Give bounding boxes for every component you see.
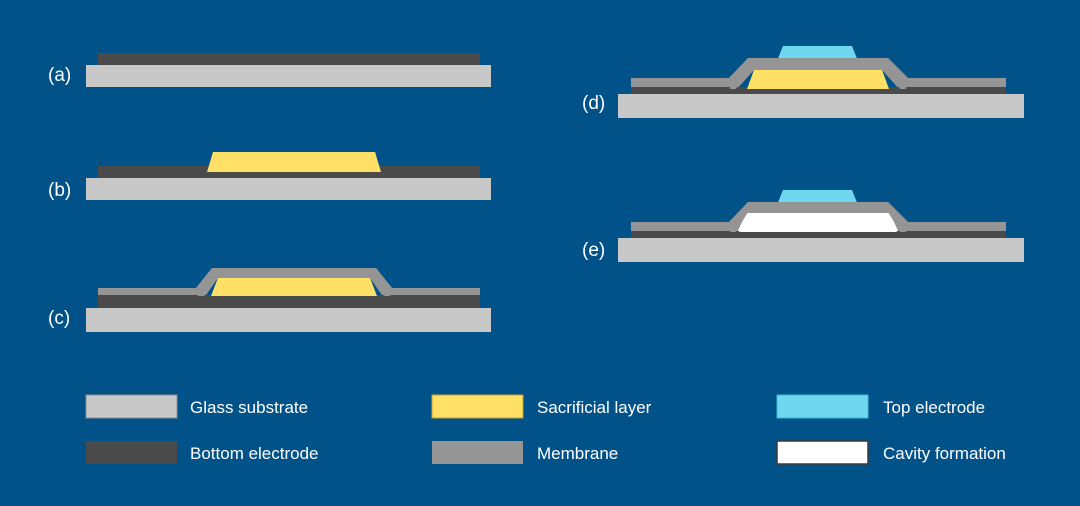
legend-label-bottom-electrode: Bottom electrode [190,444,319,463]
panel-a-glass-substrate [86,65,491,87]
cmut-fabrication-process-diagram: (a) (b) (c) [0,0,1080,506]
legend-label-sacrificial-layer: Sacrificial layer [537,398,652,417]
legend-swatch-glass-substrate [86,395,177,418]
legend-item-glass-substrate: Glass substrate [86,395,308,418]
panel-d-sacrificial-layer-overlay [747,70,889,89]
legend-item-cavity-formation: Cavity formation [777,441,1006,464]
legend-swatch-cavity-formation [777,441,868,464]
legend-label-top-electrode: Top electrode [883,398,985,417]
legend-swatch-top-electrode [777,395,868,418]
panel-e-label: (e) [582,240,605,261]
panel-d-label: (d) [582,93,605,114]
legend-item-sacrificial-layer: Sacrificial layer [432,395,652,418]
panel-e-glass-substrate [618,238,1024,262]
legend-swatch-bottom-electrode [86,441,177,464]
panel-b-glass-substrate [86,178,491,200]
panel-e-cavity-overlay [739,213,897,232]
panel-c-label: (c) [48,308,70,329]
panel-c-sacrificial-layer-overlay [211,278,377,296]
legend-swatch-sacrificial-layer [432,395,523,418]
legend-label-glass-substrate: Glass substrate [190,398,308,417]
panel-a: (a) [48,53,491,87]
panel-d-glass-substrate [618,94,1024,118]
legend-label-membrane: Membrane [537,444,618,463]
legend-swatch-membrane [432,441,523,464]
panel-b-sacrificial-layer-overlay [207,152,381,172]
legend-item-bottom-electrode: Bottom electrode [86,441,319,464]
legend-label-cavity-formation: Cavity formation [883,444,1006,463]
panel-b-label: (b) [48,180,71,201]
panel-c-bottom-electrode [98,295,480,308]
figure-container: (a) (b) (c) [0,0,1080,506]
panel-a-bottom-electrode [98,53,480,65]
panel-c-glass-substrate [86,308,491,332]
panel-a-label: (a) [48,65,71,86]
